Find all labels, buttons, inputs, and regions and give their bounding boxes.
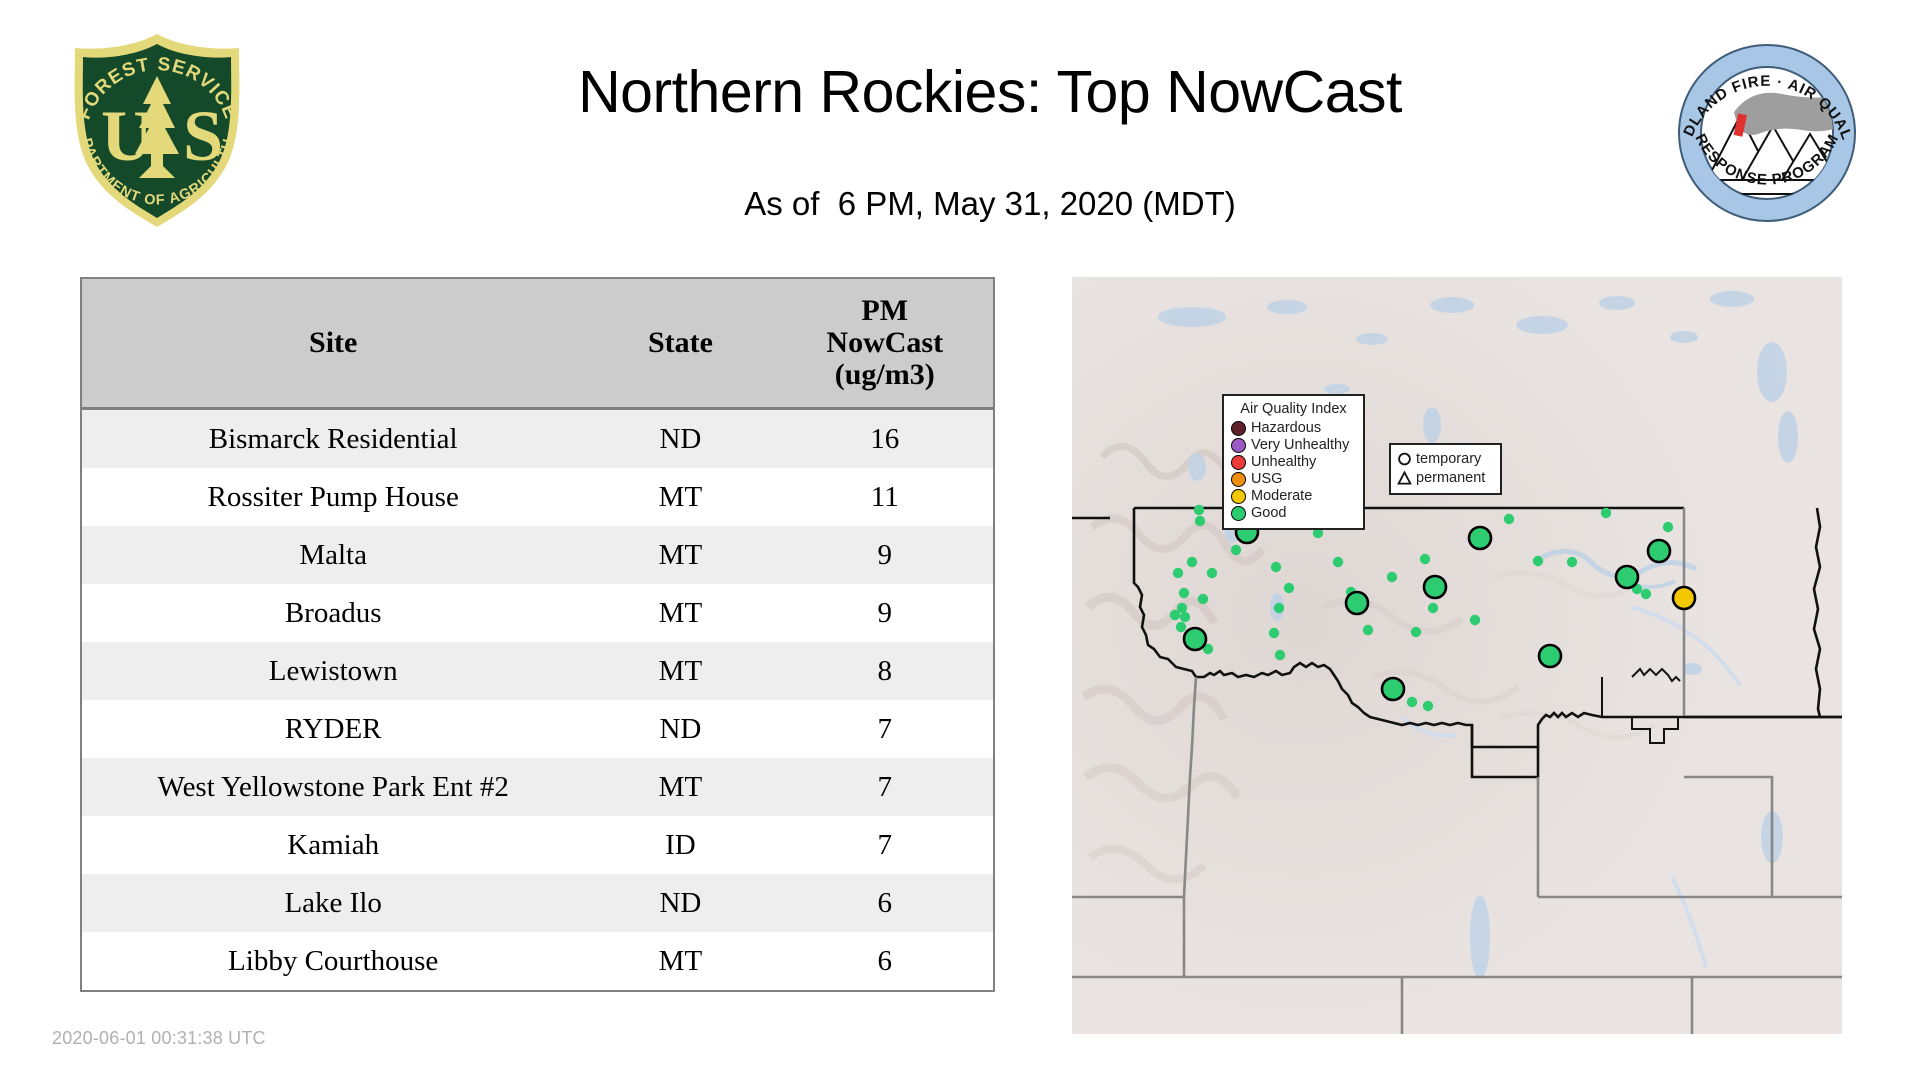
monitor-map[interactable]: Libby Courthouse — GoodKamiah — GoodRoss… xyxy=(1072,277,1842,1034)
column-header-site[interactable]: Site xyxy=(81,278,584,409)
legend-row-permanent: permanent xyxy=(1397,469,1494,488)
aqi-legend-row: Very Unhealthy xyxy=(1231,437,1356,454)
top-nowcast-table: Site State PM NowCast (ug/m3) Bismarck R… xyxy=(80,277,995,992)
cell-site: Rossiter Pump House xyxy=(81,468,584,526)
aqi-legend-label: Hazardous xyxy=(1251,420,1321,437)
table-row[interactable]: KamiahID7 xyxy=(81,816,994,874)
cell-state: MT xyxy=(584,932,776,991)
aqi-legend-row: Unhealthy xyxy=(1231,454,1356,471)
monitor-marker-small[interactable] xyxy=(1533,556,1543,566)
table-row[interactable]: Libby CourthouseMT6 xyxy=(81,932,994,991)
monitor-marker-small[interactable] xyxy=(1195,516,1205,526)
monitor-marker-small[interactable] xyxy=(1187,557,1197,567)
monitor-marker-site[interactable]: West Yellowstone Park Ent #2 — Good xyxy=(1382,678,1404,700)
monitor-marker-site[interactable]: Malta — Good xyxy=(1469,527,1491,549)
monitor-marker-site[interactable]: Broadus — Good xyxy=(1539,645,1561,667)
usda-forest-service-shield-logo: FOREST SERVICE U S DEPARTMENT OF AGRICUL… xyxy=(55,28,260,233)
table-row[interactable]: Bismarck ResidentialND16 xyxy=(81,409,994,469)
monitor-marker-small[interactable] xyxy=(1423,701,1433,711)
monitor-marker-small[interactable] xyxy=(1567,557,1577,567)
monitor-marker-small[interactable] xyxy=(1269,628,1279,638)
column-header-line-3: (ug/m3) xyxy=(781,359,990,391)
aqi-swatch-icon xyxy=(1231,472,1246,487)
cell-state: ID xyxy=(584,816,776,874)
page-header: FOREST SERVICE U S DEPARTMENT OF AGRICUL… xyxy=(0,0,1920,230)
aqi-legend-row: Good xyxy=(1231,505,1356,522)
monitor-type-legend: temporary permanent xyxy=(1389,443,1502,495)
cell-pm-nowcast: 6 xyxy=(777,932,995,991)
monitor-marker-small[interactable] xyxy=(1663,522,1673,532)
cell-state: ND xyxy=(584,409,776,469)
cell-pm-nowcast: 8 xyxy=(777,642,995,700)
column-header-pm-nowcast[interactable]: PM NowCast (ug/m3) xyxy=(777,278,995,409)
monitor-marker-small[interactable] xyxy=(1470,615,1480,625)
table-row[interactable]: Rossiter Pump HouseMT11 xyxy=(81,468,994,526)
cell-state: MT xyxy=(584,758,776,816)
cell-pm-nowcast: 7 xyxy=(777,816,995,874)
aqi-swatch-icon xyxy=(1231,438,1246,453)
page-subtitle: As of 6 PM, May 31, 2020 (MDT) xyxy=(330,185,1650,223)
table-row[interactable]: West Yellowstone Park Ent #2MT7 xyxy=(81,758,994,816)
aqi-legend-label: Very Unhealthy xyxy=(1251,437,1349,454)
table-header-row: Site State PM NowCast (ug/m3) xyxy=(81,278,994,409)
column-header-line-2: NowCast xyxy=(781,327,990,359)
monitor-marker-small[interactable] xyxy=(1179,588,1189,598)
monitor-marker-small[interactable] xyxy=(1363,625,1373,635)
legend-row-temporary: temporary xyxy=(1397,450,1494,469)
cell-pm-nowcast: 16 xyxy=(777,409,995,469)
monitor-marker-small[interactable] xyxy=(1173,568,1183,578)
monitor-marker-small[interactable] xyxy=(1420,554,1430,564)
table-body: Bismarck ResidentialND16Rossiter Pump Ho… xyxy=(81,409,994,992)
table-row[interactable]: BroadusMT9 xyxy=(81,584,994,642)
monitor-marker-site[interactable]: Kamiah — Good xyxy=(1184,628,1206,650)
monitor-marker-small[interactable] xyxy=(1284,583,1294,593)
cell-site: Kamiah xyxy=(81,816,584,874)
cell-pm-nowcast: 7 xyxy=(777,758,995,816)
cell-pm-nowcast: 9 xyxy=(777,526,995,584)
monitor-marker-small[interactable] xyxy=(1428,603,1438,613)
map-relief-shading xyxy=(1072,277,1842,1034)
aqi-legend-items: HazardousVery UnhealthyUnhealthyUSGModer… xyxy=(1231,420,1356,522)
cell-site: Broadus xyxy=(81,584,584,642)
monitor-marker-small[interactable] xyxy=(1504,514,1514,524)
cell-pm-nowcast: 11 xyxy=(777,468,995,526)
cell-pm-nowcast: 9 xyxy=(777,584,995,642)
monitor-marker-site[interactable]: Bismarck Residential — Moderate xyxy=(1673,587,1695,609)
monitor-marker-site[interactable]: RYDER — Good xyxy=(1648,540,1670,562)
cell-site: RYDER xyxy=(81,700,584,758)
aqi-swatch-icon xyxy=(1231,489,1246,504)
monitor-marker-small[interactable] xyxy=(1198,594,1208,604)
legend-label-temporary: temporary xyxy=(1416,450,1481,469)
monitor-marker-small[interactable] xyxy=(1407,697,1417,707)
table-row[interactable]: Lake IloND6 xyxy=(81,874,994,932)
triangle-outline-icon xyxy=(1397,470,1412,487)
monitor-marker-site[interactable]: Lewistown — Good xyxy=(1424,576,1446,598)
cell-site: West Yellowstone Park Ent #2 xyxy=(81,758,584,816)
cell-pm-nowcast: 6 xyxy=(777,874,995,932)
cell-state: ND xyxy=(584,874,776,932)
monitor-marker-site[interactable]: Rossiter Pump House — Good xyxy=(1346,592,1368,614)
monitor-marker-small[interactable] xyxy=(1176,622,1186,632)
cell-state: ND xyxy=(584,700,776,758)
column-header-line-1: PM xyxy=(781,295,990,327)
aqi-legend-label: Unhealthy xyxy=(1251,454,1316,471)
monitor-marker-small[interactable] xyxy=(1333,557,1343,567)
page-title: Northern Rockies: Top NowCast xyxy=(330,58,1650,126)
monitor-marker-small[interactable] xyxy=(1180,612,1190,622)
monitor-marker-small[interactable] xyxy=(1275,650,1285,660)
cell-site: Bismarck Residential xyxy=(81,409,584,469)
aqi-legend-label: Moderate xyxy=(1251,488,1312,505)
monitor-marker-small[interactable] xyxy=(1601,508,1611,518)
wildland-fire-air-quality-logo: WILDLAND FIRE · AIR QUALITY RESPONSE PRO… xyxy=(1672,38,1862,228)
cell-pm-nowcast: 7 xyxy=(777,700,995,758)
monitor-marker-small[interactable] xyxy=(1411,627,1421,637)
cell-state: MT xyxy=(584,642,776,700)
table-row[interactable]: RYDERND7 xyxy=(81,700,994,758)
generated-timestamp: 2020-06-01 00:31:38 UTC xyxy=(52,1028,266,1049)
legend-label-permanent: permanent xyxy=(1416,469,1485,488)
circle-outline-icon xyxy=(1397,451,1412,468)
aqi-legend-title: Air Quality Index xyxy=(1231,401,1356,417)
table-row[interactable]: LewistownMT8 xyxy=(81,642,994,700)
aqi-swatch-icon xyxy=(1231,421,1246,436)
cell-site: Lake Ilo xyxy=(81,874,584,932)
map-canvas: Libby Courthouse — GoodKamiah — GoodRoss… xyxy=(1072,277,1842,1034)
table-header: Site State PM NowCast (ug/m3) xyxy=(81,278,994,409)
monitor-marker-site[interactable]: Lake Ilo — Good xyxy=(1616,566,1638,588)
monitor-marker-small[interactable] xyxy=(1231,545,1241,555)
aqi-swatch-icon xyxy=(1231,455,1246,470)
aqi-legend-row: Hazardous xyxy=(1231,420,1356,437)
aqi-swatch-icon xyxy=(1231,506,1246,521)
table-row[interactable]: MaltaMT9 xyxy=(81,526,994,584)
aqi-legend-row: Moderate xyxy=(1231,488,1356,505)
cell-site: Libby Courthouse xyxy=(81,932,584,991)
cell-site: Malta xyxy=(81,526,584,584)
monitor-marker-small[interactable] xyxy=(1641,589,1651,599)
monitor-marker-small[interactable] xyxy=(1271,562,1281,572)
monitor-marker-small[interactable] xyxy=(1170,610,1180,620)
cell-state: MT xyxy=(584,468,776,526)
cell-site: Lewistown xyxy=(81,642,584,700)
monitor-marker-small[interactable] xyxy=(1194,505,1204,515)
monitor-marker-small[interactable] xyxy=(1207,568,1217,578)
monitor-marker-small[interactable] xyxy=(1387,572,1397,582)
monitor-marker-small[interactable] xyxy=(1274,603,1284,613)
aqi-legend: Air Quality Index HazardousVery Unhealth… xyxy=(1222,394,1365,530)
cell-state: MT xyxy=(584,526,776,584)
cell-state: MT xyxy=(584,584,776,642)
aqi-legend-row: USG xyxy=(1231,471,1356,488)
column-header-state[interactable]: State xyxy=(584,278,776,409)
aqi-legend-label: Good xyxy=(1251,505,1286,522)
aqi-legend-label: USG xyxy=(1251,471,1282,488)
